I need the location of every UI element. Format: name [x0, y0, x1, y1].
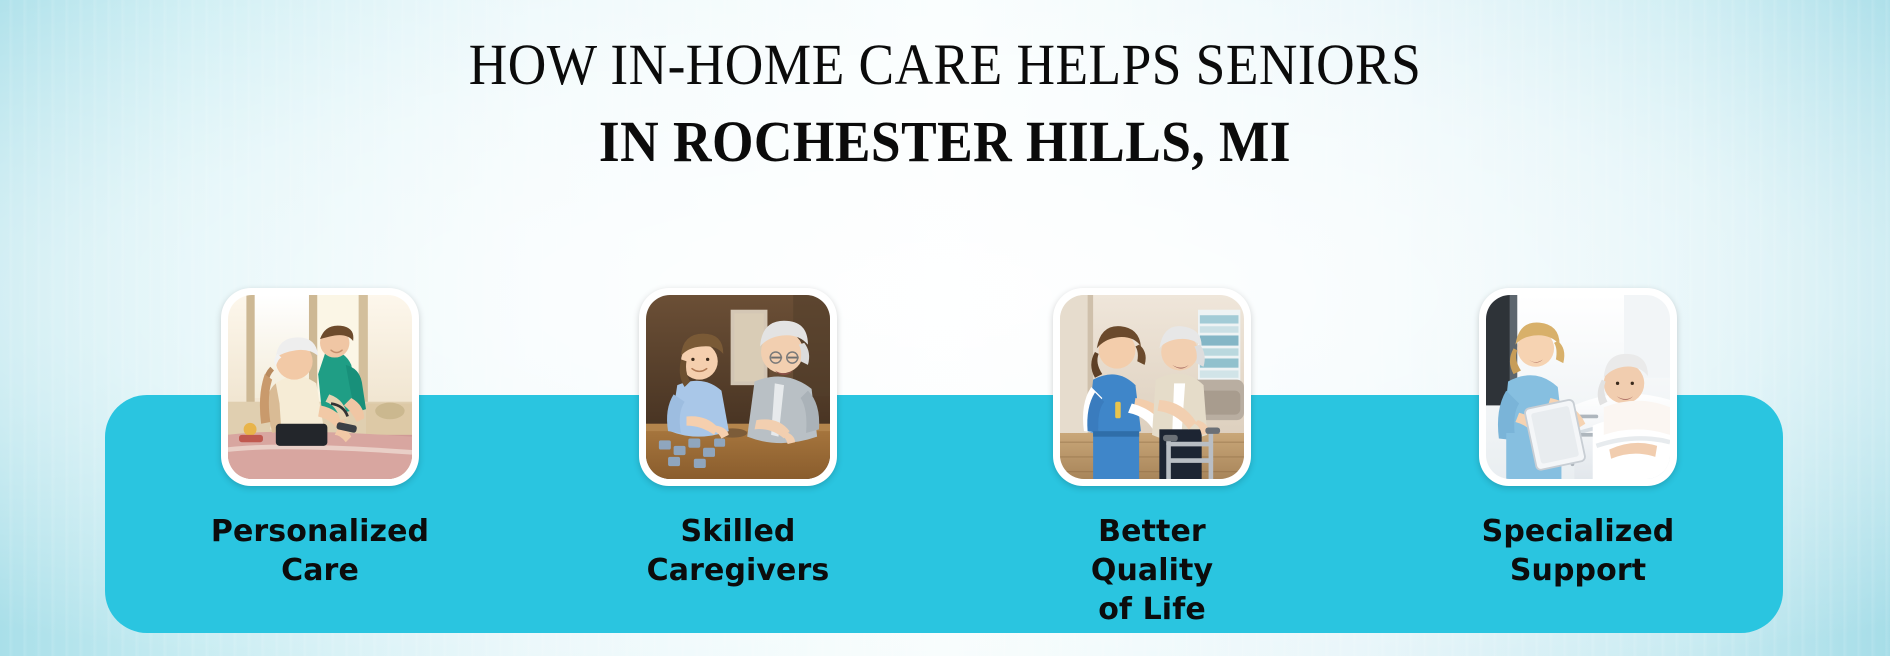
- photo-frame: [1479, 288, 1677, 486]
- headline-line-2: IN ROCHESTER HILLS, MI: [76, 111, 1815, 172]
- photo-frame: [221, 288, 419, 486]
- nurse-assisting-senior-with-walker-photo: [1060, 295, 1244, 479]
- headline-line-1: HOW IN-HOME CARE HELPS SENIORS: [76, 34, 1815, 95]
- nurse-with-tablet-bedside-senior-photo: [1486, 295, 1670, 479]
- photo-frame: [639, 288, 837, 486]
- benefit-card-label: Personalized Care: [210, 512, 430, 590]
- benefit-card-label: Skilled Caregivers: [628, 512, 848, 590]
- benefit-card-skilled-caregivers[interactable]: Skilled Caregivers: [628, 288, 848, 590]
- caregiver-dressing-seated-senior-photo: [228, 295, 412, 479]
- headline-block: HOW IN-HOME CARE HELPS SENIORS IN ROCHES…: [0, 34, 1890, 173]
- infographic-banner: HOW IN-HOME CARE HELPS SENIORS IN ROCHES…: [0, 0, 1890, 656]
- caregiver-puzzle-with-senior-photo: [646, 295, 830, 479]
- benefit-card-specialized-support[interactable]: Specialized Support: [1468, 288, 1688, 590]
- benefit-card-label: Better Quality of Life: [1042, 512, 1262, 629]
- benefit-card-personalized-care[interactable]: Personalized Care: [210, 288, 430, 590]
- photo-frame: [1053, 288, 1251, 486]
- benefit-card-label: Specialized Support: [1468, 512, 1688, 590]
- benefit-card-better-quality-of-life[interactable]: Better Quality of Life: [1042, 288, 1262, 629]
